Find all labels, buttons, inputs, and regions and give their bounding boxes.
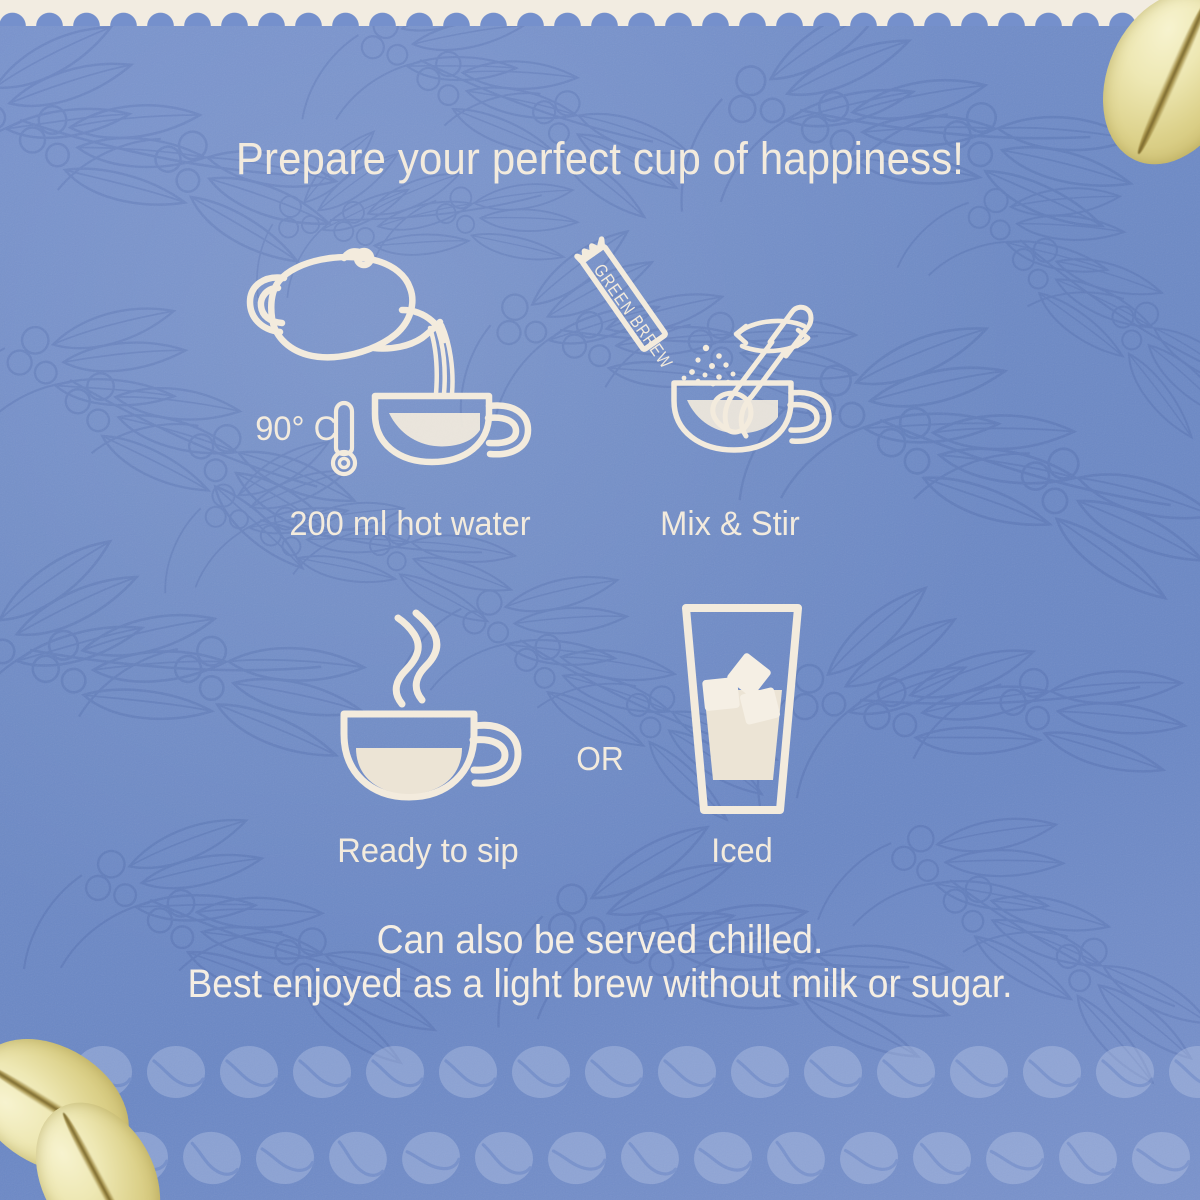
- sachet-pouring-into-cup-with-spoon-icon: GREEN BRREW: [586, 238, 864, 480]
- svg-text:GREEN BRREW: GREEN BRREW: [589, 261, 676, 373]
- footnote-line-1: Can also be served chilled.: [42, 918, 1158, 963]
- step-label-sip: Ready to sip: [274, 832, 581, 871]
- poster-canvas: Prepare your perfect cup of happiness!: [0, 0, 1200, 1200]
- sachet-label: GREEN BRREW: [589, 261, 676, 373]
- step-label-iced: Iced: [646, 832, 838, 871]
- poster-content: Prepare your perfect cup of happiness!: [0, 0, 1200, 1200]
- thermometer-icon: [320, 400, 366, 476]
- step-label-mix: Mix & Stir: [586, 505, 874, 544]
- step-label-pour: 200 ml hot water: [218, 505, 602, 544]
- steaming-cup-icon: [330, 608, 520, 820]
- iced-glass-icon: [672, 598, 812, 820]
- temperature-value: 90° C: [203, 410, 337, 449]
- or-connector-label: OR: [533, 740, 667, 778]
- page-title: Prepare your perfect cup of happiness!: [42, 133, 1158, 185]
- footnote-line-2: Best enjoyed as a light brew without mil…: [42, 962, 1158, 1007]
